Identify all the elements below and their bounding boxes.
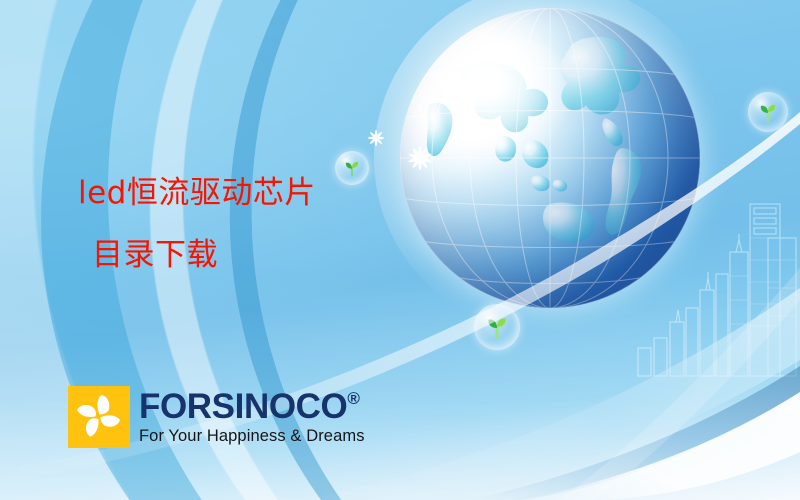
logo-text-block: FORSINOCO® For Your Happiness & Dreams bbox=[139, 389, 365, 445]
brand-logo: FORSINOCO® For Your Happiness & Dreams bbox=[68, 386, 365, 448]
logo-tagline: For Your Happiness & Dreams bbox=[139, 428, 365, 445]
earth-globe bbox=[400, 8, 700, 308]
headline-block: led恒流驱动芯片 目录下载 bbox=[78, 162, 408, 286]
headline-line-2: 目录下载 bbox=[78, 224, 408, 286]
green-sprout-icon bbox=[758, 102, 779, 123]
logo-wordmark: FORSINOCO® bbox=[139, 389, 365, 424]
bubble-sprout-right-edge bbox=[748, 92, 788, 132]
poster-canvas: led恒流驱动芯片 目录下载 FORSINOCO® For Your Happi… bbox=[0, 0, 800, 500]
green-sprout-icon bbox=[485, 315, 510, 340]
registered-trademark-symbol: ® bbox=[347, 390, 359, 407]
bubble-sprout-center bbox=[474, 304, 520, 350]
four-petal-pinwheel-icon bbox=[68, 386, 130, 448]
globe-continents-and-grid bbox=[400, 8, 700, 308]
logo-wordmark-text: FORSINOCO bbox=[139, 389, 347, 424]
headline-line-1: led恒流驱动芯片 bbox=[78, 162, 408, 224]
forsinoco-mark bbox=[68, 386, 130, 448]
globe-shading bbox=[400, 8, 700, 308]
